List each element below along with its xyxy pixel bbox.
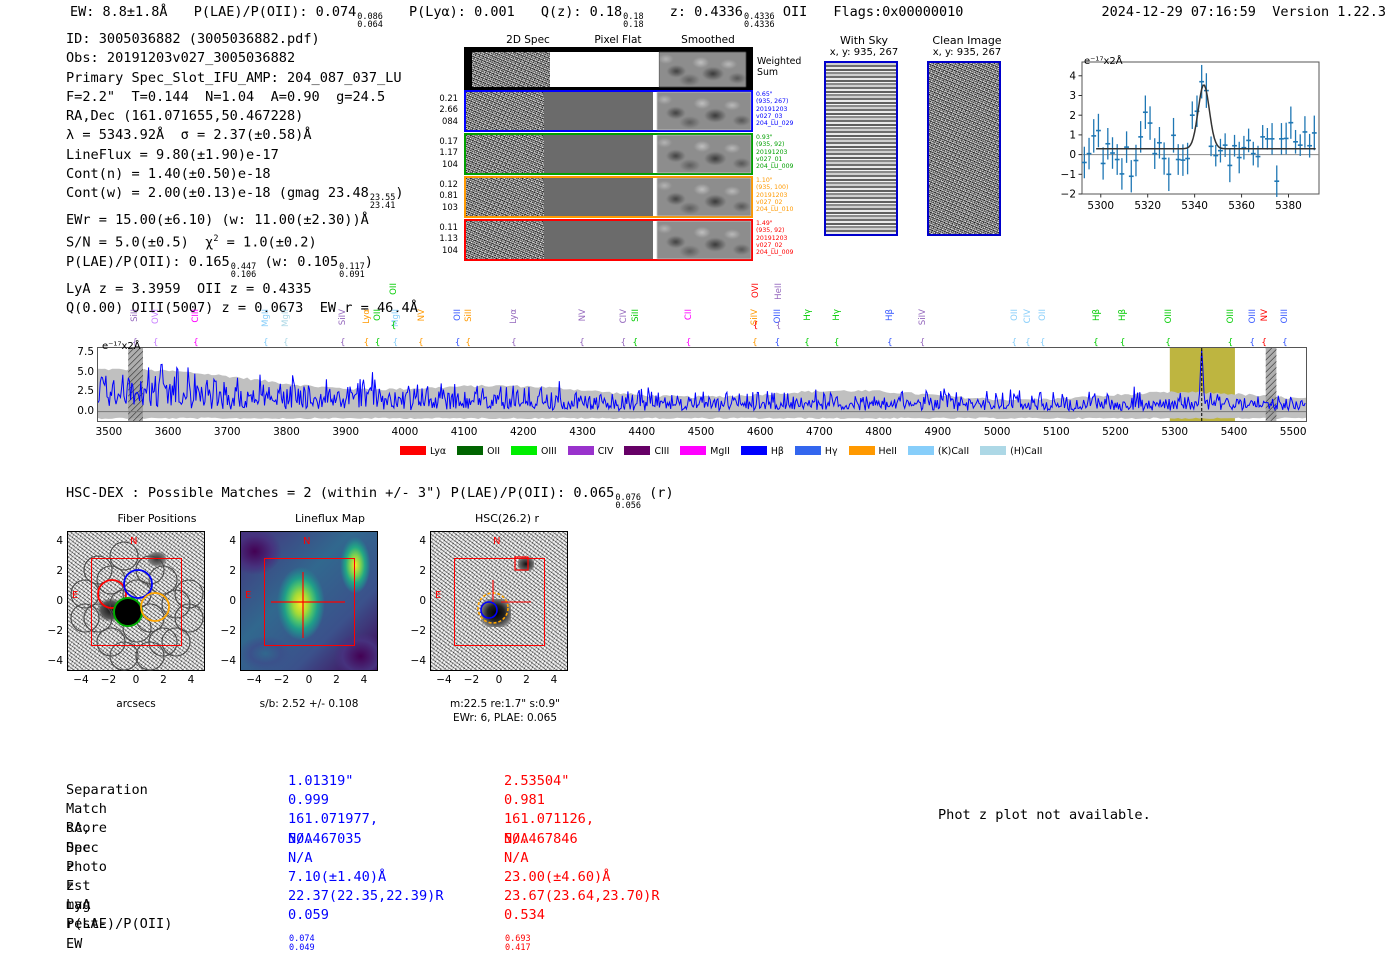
clean-image-title: Clean Image	[927, 34, 1007, 47]
header-qz: Q(z): 0.180.180.18	[541, 4, 644, 20]
line-label-HeII: HeII	[774, 283, 784, 300]
svg-text:5340: 5340	[1181, 200, 1208, 212]
spectrum-xtick: 3800	[264, 426, 308, 438]
spectrum-xtick: 3500	[87, 426, 131, 438]
info-cont-w: Cont(w) = 2.00(±0.13)e-18 (gmag 23.4823.…	[66, 184, 418, 211]
thumb-ytick: −2	[408, 625, 426, 637]
thumb-ytick: 0	[218, 595, 236, 607]
fiber-row-1-smoothed	[657, 135, 751, 173]
fiber-row-3-pixelflat	[544, 221, 653, 259]
line-label-OVI: OVI	[751, 283, 761, 298]
thumb-xtick: −4	[432, 674, 456, 686]
line-brace: {	[1040, 338, 1046, 348]
lineflux-map-xlabel: s/b: 2.52 +/- 0.108	[240, 698, 378, 710]
thumb-xtick: 0	[297, 674, 321, 686]
linefit-plot: 53005320534053605380−2−101234 e⁻¹⁷x2Å	[1040, 52, 1325, 224]
legend-swatch	[400, 446, 426, 455]
compass-north-hsc: N	[493, 536, 500, 547]
line-label-SiII: SiII	[631, 309, 641, 322]
svg-text:2: 2	[1069, 110, 1076, 122]
fiber-row-3-panel[interactable]	[464, 219, 753, 261]
line-label-CII: CII	[684, 309, 694, 320]
line-brace: {	[776, 321, 782, 331]
fiber-row-3-2dspec	[466, 221, 544, 259]
thumb-xtick: −2	[460, 674, 484, 686]
line-label-MgII: MgII	[261, 309, 271, 327]
line-brace: {	[887, 338, 893, 348]
line-brace: {	[579, 338, 585, 348]
clean-image-image	[927, 61, 1001, 236]
line-label-MgII: MgII	[281, 309, 291, 327]
spectrum-xtick: 4200	[501, 426, 545, 438]
full-spectrum-section: SiII{OVI{CIII{MgII{MgII{SiIV{Lyα{OII{MgI…	[70, 275, 1325, 460]
legend-label: OII	[487, 446, 500, 457]
line-label-H: Hγ	[832, 309, 842, 321]
spectrum-xtick: 4100	[442, 426, 486, 438]
hscdex-heading: HSC-DEX : Possible Matches = 2 (within +…	[66, 485, 674, 511]
legend-swatch	[849, 446, 875, 455]
line-brace: {	[1249, 338, 1255, 348]
line-label-OIII: OIII	[1248, 309, 1258, 323]
legend-label: Lyα	[430, 446, 446, 457]
table-row-value-match1: 1.01319"	[288, 772, 353, 791]
fiber-row-0-panel[interactable]	[464, 90, 753, 132]
thumb-ytick: 4	[408, 535, 426, 547]
table-row-value-match1: 0.999	[288, 791, 329, 810]
line-label-OIII: OIII	[1226, 309, 1236, 323]
thumb-xtick: 2	[152, 674, 176, 686]
spectrum-xtick: 5000	[975, 426, 1019, 438]
table-row-value-match1: 7.10(±1.40)Å	[288, 868, 386, 887]
fiber-row-0-meta: 0.65"(935, 267)20191203v027_03204_LU_029	[756, 91, 793, 127]
header-summary-row: EW: 8.8±1.8Å P(LAE)/P(OII): 0.0740.0860.…	[70, 4, 981, 30]
thumb-ytick: −4	[408, 655, 426, 667]
info-radec: RA,Dec (161.071655,50.467228)	[66, 107, 418, 126]
fiber-row-3-stats: 0.111.13104	[420, 222, 458, 256]
line-label-CIII: CIII	[191, 309, 201, 323]
fiber-row-2-smoothed	[657, 178, 751, 216]
info-sn-chi2: S/N = 5.0(±0.5) χ2 = 1.0(±0.2)	[66, 230, 418, 253]
spectrum-xtick: 3700	[205, 426, 249, 438]
table-row-value-match2: N/A	[504, 849, 529, 868]
thumb-ytick: 4	[45, 535, 63, 547]
thumb-xtick: −4	[242, 674, 266, 686]
legend-label: (K)CaII	[938, 446, 969, 457]
info-seeing: F=2.2" T=0.144 N=1.04 A=0.90 g=24.5	[66, 88, 418, 107]
legend-item-1: OII	[457, 446, 500, 457]
svg-text:5300: 5300	[1087, 200, 1114, 212]
spectrum-ytick: 5.0	[70, 366, 94, 378]
col-title-pixelflat: Pixel Flat	[578, 34, 658, 46]
thumb-ytick: 4	[218, 535, 236, 547]
spectrum-ytick: 2.5	[70, 385, 94, 397]
fiber-row-3-smoothed	[657, 221, 751, 259]
line-brace: {	[1093, 338, 1099, 348]
thumb-ytick: 0	[408, 595, 426, 607]
table-row-value-match1: N/A	[288, 849, 313, 868]
legend-item-6: Hβ	[741, 446, 784, 457]
fiber-row-1-stats: 0.171.17104	[420, 136, 458, 170]
spectrum-xtick: 4000	[383, 426, 427, 438]
clean-image-cutout: Clean Image x, y: 935, 267	[927, 34, 1007, 236]
legend-item-0: Lyα	[400, 446, 446, 457]
table-row-value-match2: 0.981	[504, 791, 545, 810]
thumb-xtick: 4	[542, 674, 566, 686]
compass-east-hsc: E	[435, 590, 441, 601]
legend-swatch	[908, 446, 934, 455]
line-brace: {	[418, 338, 424, 348]
legend-label: (H)CaII	[1010, 446, 1042, 457]
line-brace: {	[153, 338, 159, 348]
svg-text:0: 0	[1069, 149, 1076, 161]
legend-swatch	[511, 446, 537, 455]
legend-label: CIII	[654, 446, 669, 457]
spectrum-xtick: 3600	[146, 426, 190, 438]
table-row-label: Separation	[66, 781, 148, 800]
line-label-NV: NV	[578, 309, 588, 321]
fiber-row-2-stats: 0.120.81103	[420, 179, 458, 213]
line-label-OII: OII	[1038, 309, 1048, 321]
line-brace: {	[393, 338, 399, 348]
spectrum-xtick: 5200	[1094, 426, 1138, 438]
thumb-ytick: −4	[45, 655, 63, 667]
hsc-r-xlabel2: EWr: 6, PLAE: 0.065	[430, 712, 580, 724]
legend-label: Hγ	[825, 446, 838, 457]
panel-title-fiber-positions: Fiber Positions	[62, 512, 252, 525]
line-label-SiIV: SiIV	[918, 309, 928, 325]
spectrum-xtick: 4400	[620, 426, 664, 438]
line-brace: {	[364, 338, 370, 348]
compass-north-fiber: N	[130, 536, 137, 547]
weighted-sum-2dspec-image	[472, 52, 550, 87]
thumb-xtick: −4	[69, 674, 93, 686]
line-label-OIII: OIII	[1280, 309, 1290, 323]
fiber-row-0-2dspec	[466, 92, 544, 130]
spectrum-xtick: 3900	[324, 426, 368, 438]
legend-item-5: MgII	[680, 446, 730, 457]
spectrum-xtick: 4800	[857, 426, 901, 438]
header-plya: P(Lyα): 0.001	[409, 4, 515, 20]
table-row-label: mag	[66, 896, 91, 915]
line-brace: {	[753, 321, 759, 331]
line-brace: {	[752, 338, 758, 348]
thumb-ytick: −2	[45, 625, 63, 637]
legend-item-2: OIII	[511, 446, 557, 457]
info-cont-n: Cont(n) = 1.40(±0.50)e-18	[66, 165, 418, 184]
fiber-row-1-meta: 0.93"(935, 92)20191203v027_01204_LU_009	[756, 134, 793, 170]
table-row-value-match2: 0.5340.6930.417	[504, 906, 545, 952]
svg-text:5380: 5380	[1275, 200, 1302, 212]
fiber-row-2-2dspec	[466, 178, 544, 216]
svg-text:3: 3	[1069, 90, 1076, 102]
line-brace: {	[465, 338, 471, 348]
spectrum-xtick: 5400	[1212, 426, 1256, 438]
fiber-row-1-panel[interactable]	[464, 133, 753, 175]
thumb-xtick: 4	[352, 674, 376, 686]
spectrum-xtick: 5300	[1153, 426, 1197, 438]
thumb-xtick: 2	[515, 674, 539, 686]
svg-text:1: 1	[1069, 129, 1076, 141]
hsc-r-image[interactable]: N E	[430, 531, 568, 671]
line-brace: {	[1261, 338, 1267, 348]
fiber-row-0-pixelflat	[544, 92, 653, 130]
line-label-SiII: SiII	[130, 309, 140, 322]
line-label-NV: NV	[1260, 309, 1270, 321]
with-sky-title: With Sky	[824, 34, 904, 47]
spectrum-ytick: 0.0	[70, 405, 94, 417]
line-brace: {	[920, 338, 926, 348]
legend-swatch	[624, 446, 650, 455]
svg-text:−1: −1	[1061, 169, 1076, 181]
line-brace: {	[1227, 338, 1233, 348]
linefit-svg: 53005320534053605380−2−101234	[1040, 52, 1325, 224]
table-row-value-match1: N/A	[288, 830, 313, 849]
line-label-OIII: OIII	[1164, 309, 1174, 323]
fiber-row-2-meta: 1.10"(935, 100)20191203v027_02204_LU_010	[756, 177, 793, 213]
legend-item-10: (H)CaII	[980, 446, 1042, 457]
line-brace: {	[391, 321, 397, 331]
linefit-flux-units: e⁻¹⁷x2Å	[1084, 56, 1123, 67]
header-plae-poii: P(LAE)/P(OII): 0.0740.0860.064	[194, 4, 383, 20]
panel-title-lineflux-map: Lineflux Map	[235, 512, 425, 525]
line-brace: {	[1165, 338, 1171, 348]
line-label-NV: NV	[417, 309, 427, 321]
line-brace: {	[686, 338, 692, 348]
header-ew: EW: 8.8±1.8Å	[70, 4, 168, 20]
line-brace: {	[1025, 338, 1031, 348]
line-label-Ly: Lyα	[509, 309, 519, 324]
legend-swatch	[457, 446, 483, 455]
info-lineflux: LineFlux = 9.80(±1.90)e-17	[66, 146, 418, 165]
thumb-ytick: 2	[218, 565, 236, 577]
legend-item-9: (K)CaII	[908, 446, 969, 457]
spectrum-legend: LyαOIIOIIICIVCIIIMgIIHβHγHeII(K)CaII(H)C…	[400, 446, 1042, 457]
compass-east-lineflux: E	[245, 590, 251, 601]
table-row-value-match2: 2.53504"	[504, 772, 569, 791]
line-brace: {	[1011, 338, 1017, 348]
with-sky-image	[824, 61, 898, 236]
svg-text:5360: 5360	[1228, 200, 1255, 212]
info-wavelength: λ = 5343.92Å σ = 2.37(±0.58)Å	[66, 126, 418, 145]
fiber-row-2-pixelflat	[544, 178, 653, 216]
table-row-value-match1: 0.0590.0740.049	[288, 906, 329, 952]
thumb-xtick: 0	[124, 674, 148, 686]
header-timestamp-version: 2024-12-29 07:16:59 Version 1.22.3	[1102, 4, 1387, 20]
fiber-positions-image[interactable]: N E	[67, 531, 205, 671]
thumb-ytick: −2	[218, 625, 236, 637]
line-label-H: Hβ	[1092, 309, 1102, 321]
compass-north-lineflux: N	[303, 536, 310, 547]
legend-item-7: Hγ	[795, 446, 838, 457]
spectrum-xtick: 4900	[916, 426, 960, 438]
table-row-value-match1: 22.37(22.35,22.39)R	[288, 887, 444, 906]
fiber-row-1-pixelflat	[544, 135, 653, 173]
compass-east-fiber: E	[72, 590, 78, 601]
spectrum-flux-units: e⁻¹⁷x2Å	[102, 341, 141, 352]
fiber-row-3-meta: 1.49"(935, 92)20191203v027_02204_LU_009	[756, 220, 793, 256]
legend-label: OIII	[541, 446, 557, 457]
fiber-row-1-2dspec	[466, 135, 544, 173]
line-brace: {	[632, 338, 638, 348]
lineflux-map-image[interactable]: N E	[240, 531, 378, 671]
line-brace: {	[455, 338, 461, 348]
line-label-CIV: CIV	[619, 309, 629, 323]
thumb-xtick: −2	[270, 674, 294, 686]
svg-text:5320: 5320	[1134, 200, 1161, 212]
table-row-value-match2: 23.00(±4.60)Å	[504, 868, 610, 887]
legend-swatch	[980, 446, 1006, 455]
info-id: ID: 3005036882 (3005036882.pdf)	[66, 30, 418, 49]
line-brace: {	[193, 338, 199, 348]
thumb-ytick: 2	[45, 565, 63, 577]
weighted-sum-smoothed-image	[659, 52, 746, 87]
weighted-sum-pixelflat-image	[550, 52, 659, 87]
thumb-ytick: −4	[218, 655, 236, 667]
line-brace: {	[511, 338, 517, 348]
line-label-OVI: OVI	[151, 309, 161, 324]
spectrum-xtick: 4700	[797, 426, 841, 438]
table-row-value-match2: N/A	[504, 830, 529, 849]
legend-label: MgII	[710, 446, 730, 457]
thumb-xtick: 2	[325, 674, 349, 686]
line-brace: {	[375, 338, 381, 348]
legend-item-4: CIII	[624, 446, 669, 457]
fiber-positions-xlabel: arcsecs	[67, 698, 205, 710]
line-label-OII: OII	[373, 309, 383, 321]
line-label-SiII: SiII	[464, 309, 474, 322]
col-title-2dspec: 2D Spec	[488, 34, 568, 46]
line-brace: {	[621, 338, 627, 348]
legend-swatch	[795, 446, 821, 455]
line-label-OII: OII	[1010, 309, 1020, 321]
col-title-smoothed: Smoothed	[668, 34, 748, 46]
header-redshift: z: 0.43360.43360.4336 OII	[670, 4, 807, 20]
svg-text:4: 4	[1069, 70, 1076, 82]
thumb-xtick: 0	[487, 674, 511, 686]
header-flags: Flags:0x00000010	[833, 4, 963, 20]
line-brace: {	[283, 338, 289, 348]
weighted-sum-label: WeightedSum	[757, 56, 801, 78]
thumb-xtick: 4	[179, 674, 203, 686]
legend-swatch	[741, 446, 767, 455]
full-spectrum-svg	[98, 348, 1306, 421]
line-label-H: Hγ	[803, 309, 813, 321]
clean-image-subtitle: x, y: 935, 267	[927, 47, 1007, 58]
line-label-H: Hβ	[885, 309, 895, 321]
lineflux-crosshair	[241, 532, 379, 672]
hsc-r-xlabel: m:22.5 re:1.7" s:0.9"	[430, 698, 580, 710]
panel-title-hsc-r: HSC(26.2) r	[412, 512, 602, 525]
line-brace: {	[1120, 338, 1126, 348]
info-primary-spec: Primary Spec_Slot_IFU_AMP: 204_087_037_L…	[66, 69, 418, 88]
legend-label: HeII	[879, 446, 897, 457]
line-label-OII: OII	[453, 309, 463, 321]
line-brace: {	[340, 338, 346, 348]
with-sky-subtitle: x, y: 935, 267	[824, 47, 904, 58]
fiber-row-0-smoothed	[657, 92, 751, 130]
legend-label: Hβ	[771, 446, 784, 457]
legend-item-8: HeII	[849, 446, 897, 457]
spectrum-xtick: 4600	[738, 426, 782, 438]
legend-swatch	[568, 446, 594, 455]
thumb-xtick: −2	[97, 674, 121, 686]
info-ewr: EWr = 15.00(±6.10) (w: 11.00(±2.30))Å	[66, 211, 418, 230]
line-label-CIV: CIV	[1023, 309, 1033, 323]
line-brace: {	[1282, 338, 1288, 348]
spectrum-ytick: 7.5	[70, 346, 94, 358]
table-row-label: P(LAE)/P(OII)	[66, 915, 172, 934]
spectrum-xtick: 4500	[679, 426, 723, 438]
spectrum-xtick: 4300	[561, 426, 605, 438]
fiber-row-0-stats: 0.212.66084	[420, 93, 458, 127]
spectrum-xtick: 5100	[1034, 426, 1078, 438]
table-row-value-match2: 23.67(23.64,23.70)R	[504, 887, 660, 906]
weighted-sum-row	[464, 47, 753, 92]
full-spectrum-plot	[97, 347, 1307, 422]
legend-item-3: CIV	[568, 446, 614, 457]
with-sky-cutout: With Sky x, y: 935, 267	[824, 34, 904, 236]
legend-swatch	[680, 446, 706, 455]
fiber-row-2-panel[interactable]	[464, 176, 753, 218]
thumb-ytick: 0	[45, 595, 63, 607]
legend-label: CIV	[598, 446, 614, 457]
thumb-ytick: 2	[408, 565, 426, 577]
line-label-Ly: Lyα	[362, 309, 372, 324]
line-label-SiIV: SiIV	[338, 309, 348, 325]
line-label-OII: OII	[389, 283, 399, 295]
line-label-H: Hβ	[1118, 309, 1128, 321]
svg-text:−2: −2	[1061, 189, 1076, 201]
line-brace: {	[774, 338, 780, 348]
info-obs: Obs: 20191203v027_3005036882	[66, 49, 418, 68]
line-brace: {	[263, 338, 269, 348]
photz-message: Phot z plot not available.	[938, 807, 1151, 823]
line-brace: {	[804, 338, 810, 348]
spectrum-xtick: 5500	[1271, 426, 1315, 438]
line-brace: {	[834, 338, 840, 348]
